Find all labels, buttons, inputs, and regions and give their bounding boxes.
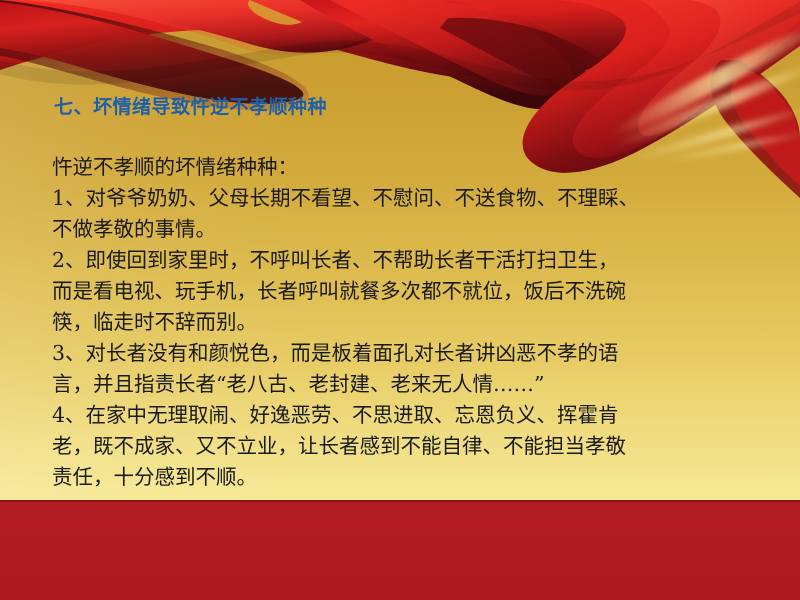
body-line: 4、在家中无理取闹、好逸恶劳、不思进取、忘恩负义、挥霍肯 (52, 400, 752, 431)
body-line: 而是看电视、玩手机，长者呼叫就餐多次都不就位，饭后不洗碗 (52, 276, 752, 307)
slide-body-text: 忤逆不孝顺的坏情绪种种： 1、对爷爷奶奶、父母长期不看望、不慰问、不送食物、不理… (52, 152, 752, 493)
body-line: 1、对爷爷奶奶、父母长期不看望、不慰问、不送食物、不理睬、 (52, 183, 752, 214)
body-line: 2、即使回到家里时，不呼叫长者、不帮助长者干活打扫卫生， (52, 245, 752, 276)
body-line: 老，既不成家、又不立业，让长者感到不能自律、不能担当孝敬 (52, 431, 752, 462)
body-line: 责任，十分感到不顺。 (52, 462, 752, 493)
body-line: 筷，临走时不辞而别。 (52, 307, 752, 338)
body-line: 不做孝敬的事情。 (52, 214, 752, 245)
bottom-red-band (0, 502, 800, 600)
slide-title: 七、坏情绪导致忤逆不孝顺种种 (54, 92, 327, 119)
body-line: 3、对长者没有和颜悦色，而是板着面孔对长者讲凶恶不孝的语 (52, 338, 752, 369)
presentation-slide: 七、坏情绪导致忤逆不孝顺种种 忤逆不孝顺的坏情绪种种： 1、对爷爷奶奶、父母长期… (0, 0, 800, 600)
body-line: 忤逆不孝顺的坏情绪种种： (52, 152, 752, 183)
body-line: 言，并且指责长者“老八古、老封建、老来无人情……” (52, 369, 752, 400)
